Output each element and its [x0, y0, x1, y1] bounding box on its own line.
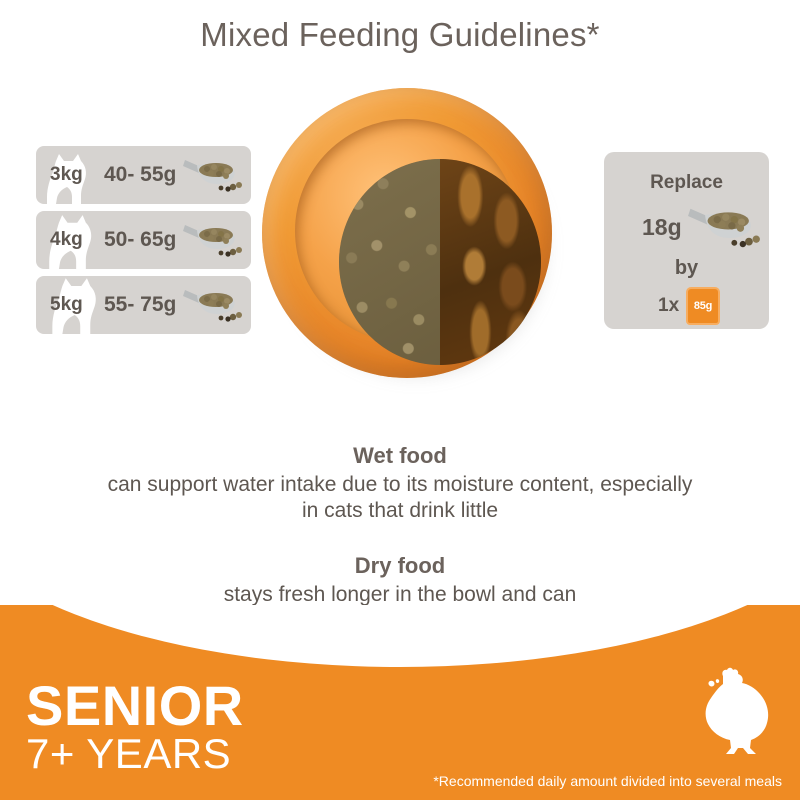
life-stage-label: SENIOR [26, 678, 244, 734]
page-title: Mixed Feeding Guidelines* [0, 16, 800, 54]
bowl-outer [262, 88, 552, 378]
table-row: 5kg 55- 75g [36, 276, 251, 334]
dry-kibble [339, 159, 444, 365]
replace-amount: 18g [642, 214, 682, 241]
replace-panel: Replace 18g by 1x 85g [604, 152, 769, 329]
row-amount: 55- 75g [104, 293, 176, 317]
footnote: *Recommended daily amount divided into s… [0, 773, 800, 789]
row-weight: 5kg [50, 294, 83, 316]
pouch-label: 85g [694, 300, 712, 312]
scoop-icon [183, 153, 247, 197]
wet-food-heading: Wet food [0, 443, 800, 469]
scoop-icon [183, 218, 247, 262]
wet-food-section: Wet food can support water intake due to… [0, 443, 800, 525]
wet-food-line-1: can support water intake due to its mois… [0, 472, 800, 498]
bowl-food [339, 159, 541, 365]
cat-food-bowl-image [262, 88, 562, 388]
row-weight: 3kg [50, 164, 83, 186]
row-amount: 50- 65g [104, 228, 176, 252]
age-range-label: 7+ YEARS [26, 733, 231, 775]
wet-food [440, 159, 541, 365]
replace-connector: by [604, 257, 769, 280]
dry-food-heading: Dry food [0, 553, 800, 579]
pouch-icon: 85g [686, 287, 720, 325]
wet-food-line-2: in cats that drink little [0, 498, 800, 524]
replace-quantity: 1x [658, 295, 679, 317]
banner-curve-decoration [0, 605, 800, 667]
replace-title: Replace [604, 172, 769, 194]
chicken-icon [690, 666, 776, 758]
row-weight: 4kg [50, 229, 83, 251]
feeding-guidelines-page: Mixed Feeding Guidelines* 3kg 40- 55g [0, 0, 800, 800]
row-amount: 40- 55g [104, 163, 176, 187]
feeding-table: 3kg 40- 55g [36, 146, 251, 341]
table-row: 4kg 50- 65g [36, 211, 251, 269]
table-row: 3kg 40- 55g [36, 146, 251, 204]
scoop-icon [688, 200, 766, 254]
scoop-icon [183, 283, 247, 327]
bowl-inner-rim [295, 119, 519, 343]
